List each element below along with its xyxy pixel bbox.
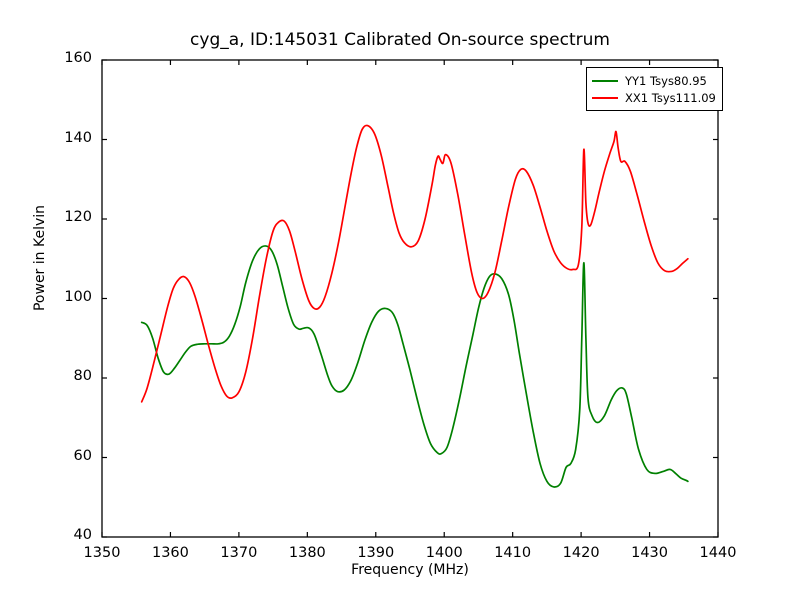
legend-label: XX1 Tsys111.09: [625, 91, 716, 105]
x-tick-label: 1410: [483, 545, 543, 561]
y-tick-label: 140: [32, 130, 92, 146]
x-tick-label: 1370: [209, 545, 269, 561]
x-tick-label: 1400: [414, 545, 474, 561]
legend-color-swatch: [592, 97, 618, 99]
legend-item: XX1 Tsys111.09: [592, 89, 716, 106]
y-tick-label: 160: [32, 50, 92, 66]
x-tick-label: 1420: [551, 545, 611, 561]
axes-frame: [102, 60, 718, 537]
x-tick-label: 1380: [277, 545, 337, 561]
legend-color-swatch: [592, 80, 618, 82]
x-tick-label: 1350: [72, 545, 132, 561]
y-tick-label: 40: [32, 527, 92, 543]
y-tick-label: 60: [32, 448, 92, 464]
x-axis-label: Frequency (MHz): [102, 562, 718, 578]
x-tick-label: 1360: [140, 545, 200, 561]
x-tick-label: 1430: [620, 545, 680, 561]
chart-legend: YY1 Tsys80.95XX1 Tsys111.09: [586, 67, 723, 111]
legend-item: YY1 Tsys80.95: [592, 72, 716, 89]
y-axis-label: Power in Kelvin: [32, 158, 48, 358]
x-tick-label: 1390: [346, 545, 406, 561]
matplotlib-figure: cyg_a, ID:145031 Calibrated On-source sp…: [0, 0, 800, 600]
legend-label: YY1 Tsys80.95: [625, 74, 707, 88]
y-tick-label: 80: [32, 368, 92, 384]
x-tick-label: 1440: [688, 545, 748, 561]
